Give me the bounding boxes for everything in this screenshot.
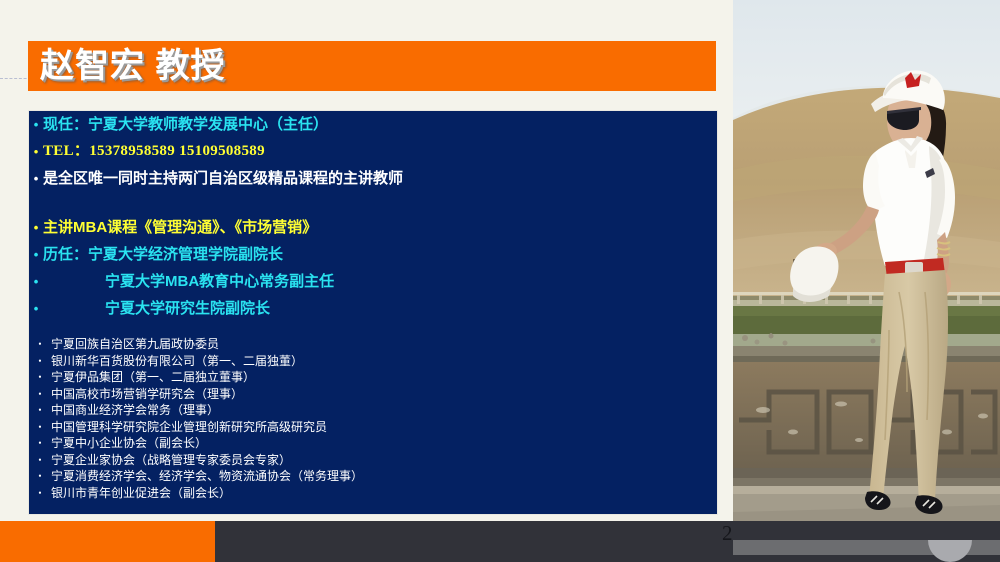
- bullet-icon: •: [29, 111, 43, 138]
- affiliations-list: • 宁夏回族自治区第九届政协委员 • 银川新华百货股份有限公司（第一、二届独董）…: [29, 336, 717, 501]
- bullet-icon: •: [29, 452, 51, 469]
- bullet-icon: •: [29, 295, 43, 322]
- list-item: • 中国管理科学研究院企业管理创新研究所高级研究员: [29, 419, 717, 436]
- list-item: • 银川新华百货股份有限公司（第一、二届独董）: [29, 353, 717, 370]
- list-item: • 宁夏消费经济学会、经济学会、物资流通协会（常务理事）: [29, 468, 717, 485]
- content-panel: • 现任：宁夏大学教师教学发展中心（主任） • TEL：15378958589 …: [28, 110, 718, 515]
- bullet-icon: •: [29, 353, 51, 370]
- page-title: 赵智宏 教授: [40, 49, 225, 83]
- list-item: • 宁夏大学MBA教育中心常务副主任: [29, 268, 717, 295]
- list-item-label: 中国管理科学研究院企业管理创新研究所高级研究员: [51, 419, 327, 436]
- list-item: • 主讲MBA课程《管理沟通》、《市场营销》: [29, 214, 717, 241]
- photo-illustration: [733, 0, 1000, 540]
- list-item: • 中国商业经济学会常务（理事）: [29, 402, 717, 419]
- title-bar: 赵智宏 教授: [28, 41, 716, 91]
- bullet-icon: •: [29, 386, 51, 403]
- list-item: • 宁夏企业家协会（战略管理专家委员会专家）: [29, 452, 717, 469]
- list-item: • 现任：宁夏大学教师教学发展中心（主任）: [29, 111, 717, 138]
- list-spacer: [29, 192, 717, 214]
- list-item-label: 历任：宁夏大学经济管理学院副院长: [43, 241, 283, 268]
- list-item-label: 宁夏伊品集团（第一、二届独立董事）: [51, 369, 255, 386]
- bullet-icon: •: [29, 468, 51, 485]
- footer-accent-bar: [0, 521, 215, 562]
- list-item: • 宁夏回族自治区第九届政协委员: [29, 336, 717, 353]
- list-item-label: 宁夏消费经济学会、经济学会、物资流通协会（常务理事）: [51, 468, 363, 485]
- list-item: • TEL：15378958589 15109508589: [29, 138, 717, 165]
- list-item-label: 现任：宁夏大学教师教学发展中心（主任）: [43, 111, 328, 138]
- bullet-icon: •: [29, 369, 51, 386]
- list-item-label: 宁夏大学MBA教育中心常务副主任: [105, 268, 334, 295]
- bullet-icon: •: [29, 336, 51, 353]
- portrait-photo: [733, 0, 1000, 540]
- main-bullet-list: • 现任：宁夏大学教师教学发展中心（主任） • TEL：15378958589 …: [29, 111, 717, 322]
- list-item-label: 中国商业经济学会常务（理事）: [51, 402, 219, 419]
- bullet-icon: •: [29, 165, 43, 192]
- bullet-icon: •: [29, 485, 51, 502]
- bullet-icon: •: [29, 419, 51, 436]
- list-item-label: 是全区唯一同时主持两门自治区级精品课程的主讲教师: [43, 165, 403, 192]
- page-number: 2: [722, 521, 733, 545]
- list-item-label: 宁夏企业家协会（战略管理专家委员会专家）: [51, 452, 291, 469]
- bullet-icon: •: [29, 435, 51, 452]
- list-item-label: 银川市青年创业促进会（副会长）: [51, 485, 231, 502]
- list-item-label: 宁夏中小企业协会（副会长）: [51, 435, 207, 452]
- list-item: • 历任：宁夏大学经济管理学院副院长: [29, 241, 717, 268]
- list-item: • 银川市青年创业促进会（副会长）: [29, 485, 717, 502]
- bullet-icon: •: [29, 402, 51, 419]
- bullet-icon: •: [29, 214, 43, 241]
- bullet-icon: •: [29, 241, 43, 268]
- slide-canvas: 赵智宏 教授 • 现任：宁夏大学教师教学发展中心（主任） • TEL：15378…: [0, 0, 1000, 562]
- bullet-icon: •: [29, 268, 43, 295]
- list-item-label: 银川新华百货股份有限公司（第一、二届独董）: [51, 353, 303, 370]
- section-gap: [29, 322, 717, 336]
- list-item: • 宁夏中小企业协会（副会长）: [29, 435, 717, 452]
- list-item-label: 中国高校市场营销学研究会（理事）: [51, 386, 243, 403]
- bullet-icon: •: [29, 138, 43, 165]
- list-item: • 宁夏大学研究生院副院长: [29, 295, 717, 322]
- list-item-label: 宁夏回族自治区第九届政协委员: [51, 336, 219, 353]
- list-item: • 宁夏伊品集团（第一、二届独立董事）: [29, 369, 717, 386]
- list-item-label: TEL：15378958589 15109508589: [43, 138, 265, 165]
- list-item: • 中国高校市场营销学研究会（理事）: [29, 386, 717, 403]
- list-item-label: 主讲MBA课程《管理沟通》、《市场营销》: [43, 214, 317, 241]
- list-item: • 是全区唯一同时主持两门自治区级精品课程的主讲教师: [29, 165, 717, 192]
- list-item-label: 宁夏大学研究生院副院长: [105, 295, 270, 322]
